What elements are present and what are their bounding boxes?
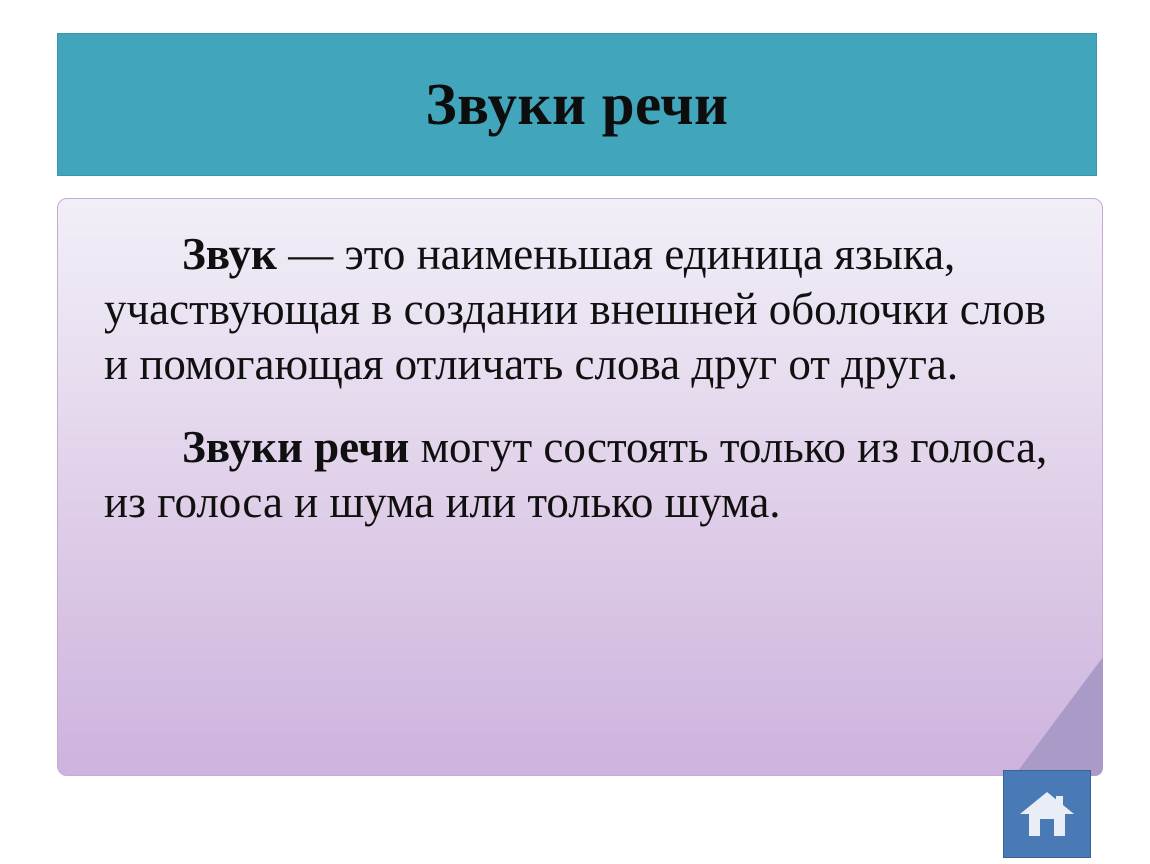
paragraph-2: Звуки речи могут состоять только из голо… [104,420,1064,530]
paragraph-1-lead: Звук [182,229,277,279]
content-card: Звук — это наименьшая единица языка, уча… [57,198,1103,776]
slide-title-bar: Звуки речи [57,33,1097,176]
card-body-text: Звук — это наименьшая единица языка, уча… [104,227,1064,535]
paragraph-1: Звук — это наименьшая единица языка, уча… [104,227,1064,392]
content-card-wrapper: Звук — это наименьшая единица языка, уча… [57,198,1103,776]
home-button[interactable] [1003,770,1091,858]
page-title: Звуки речи [425,75,728,134]
home-icon [1018,789,1076,839]
paragraph-2-lead: Звуки речи [182,422,409,472]
